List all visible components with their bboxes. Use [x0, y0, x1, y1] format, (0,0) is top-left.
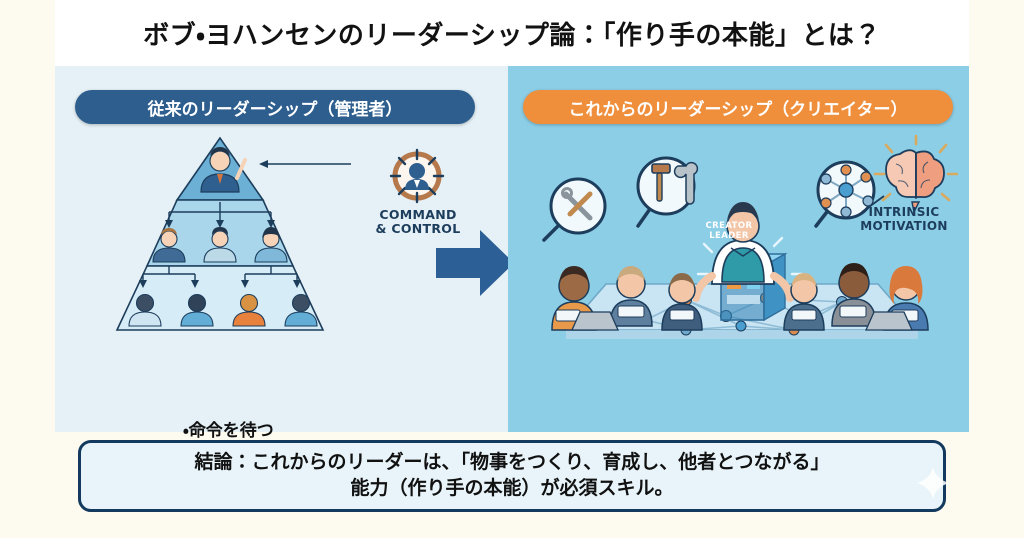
conclusion-line-2: 能力（作り手の本能）が必須スキル。 — [350, 476, 673, 502]
right-panel-header-pill: これからのリーダーシップ（クリエイター） — [523, 90, 953, 124]
intrinsic-motivation-label: INTRINSIC MOTIVATION — [844, 206, 964, 234]
target-person-icon — [385, 144, 449, 208]
hierarchy-pyramid-illustration — [65, 134, 375, 339]
sparkle-icon — [916, 466, 950, 500]
right-panel-creator-leadership: これからのリーダーシップ（クリエイター） — [508, 66, 969, 432]
pyramid-diagram-icon — [65, 134, 375, 339]
conclusion-line-1: 結論：これからのリーダーは、「物事をつくり、育成し、他者とつながる」 — [195, 450, 830, 476]
conclusion-box: 結論：これからのリーダーは、「物事をつくり、育成し、他者とつながる」 能力（作り… — [78, 440, 946, 512]
left-panel-header-pill: 従来のリーダーシップ（管理者） — [75, 90, 475, 124]
page-title: ボブ・ヨハンセンのリーダーシップ論：「作り手の本能」とは？ — [143, 15, 881, 52]
right-panel-header-label: これからのリーダーシップ（クリエイター） — [569, 95, 908, 120]
left-panel-header-label: 従来のリーダーシップ（管理者） — [148, 95, 403, 120]
infographic-root: ボブ・ヨハンセンのリーダーシップ論：「作り手の本能」とは？ 従来のリーダーシップ… — [0, 0, 1024, 538]
hammer-wrench-icon — [638, 158, 697, 226]
crossed-tools-icon — [544, 179, 605, 240]
brain-icon — [875, 136, 957, 212]
transition-arrow-icon — [432, 222, 518, 304]
title-bar: ボブ・ヨハンセンのリーダーシップ論：「作り手の本能」とは？ — [55, 0, 969, 66]
creator-leader-badge: CREATOR LEADER — [698, 219, 760, 245]
